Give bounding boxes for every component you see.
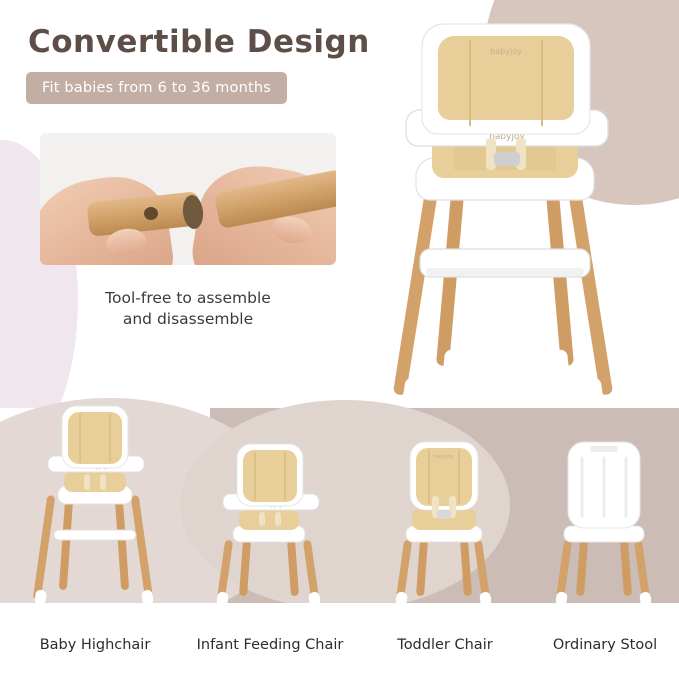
mode-ordinary-stool: Ordinary Stool — [520, 400, 679, 679]
m3-backrest: babyjoy — [410, 442, 478, 510]
hero-footrest — [420, 249, 590, 277]
assembly-photo — [40, 133, 336, 265]
mode-label-1: Baby Highchair — [10, 637, 180, 653]
assembly-caption: Tool-free to assemble and disassemble — [52, 288, 324, 330]
page-title: Convertible Design — [28, 24, 370, 60]
leg-socket-hole — [144, 207, 158, 220]
m4-backrest — [568, 442, 640, 528]
subtitle-pill: Fit babies from 6 to 36 months — [26, 72, 287, 104]
hero-rear-legs — [393, 176, 613, 403]
assembly-caption-line2: and disassemble — [52, 309, 324, 330]
hero-backrest: babyjoy — [422, 24, 590, 134]
m3-legs — [395, 540, 492, 607]
m4-legs — [555, 540, 652, 607]
m2-legs — [216, 540, 321, 607]
m2-backrest — [237, 444, 303, 506]
m1-backrest — [62, 406, 128, 468]
hero-backrest-brand: babyjoy — [490, 47, 522, 56]
mode-label-3: Toddler Chair — [360, 637, 530, 653]
hero-highchair: babyjoy babyjoy — [348, 6, 668, 406]
mode-toddler-chair: babyjoy Toddler Chair — [360, 400, 530, 679]
m3-brand: babyjoy — [434, 454, 454, 460]
m1-legs — [33, 495, 154, 606]
mode-baby-highchair: babyjoy Baby Highchair — [10, 400, 180, 679]
mode-label-2: Infant Feeding Chair — [185, 637, 355, 653]
mode-row: babyjoy Baby Highchair — [0, 400, 679, 679]
assembly-caption-line1: Tool-free to assemble — [52, 288, 324, 309]
mode-infant-feeding-chair: babyjoy Infant Feeding Chair — [185, 400, 355, 679]
image-canvas: Convertible Design Fit babies from 6 to … — [0, 0, 679, 679]
mode-label-4: Ordinary Stool — [520, 637, 679, 653]
